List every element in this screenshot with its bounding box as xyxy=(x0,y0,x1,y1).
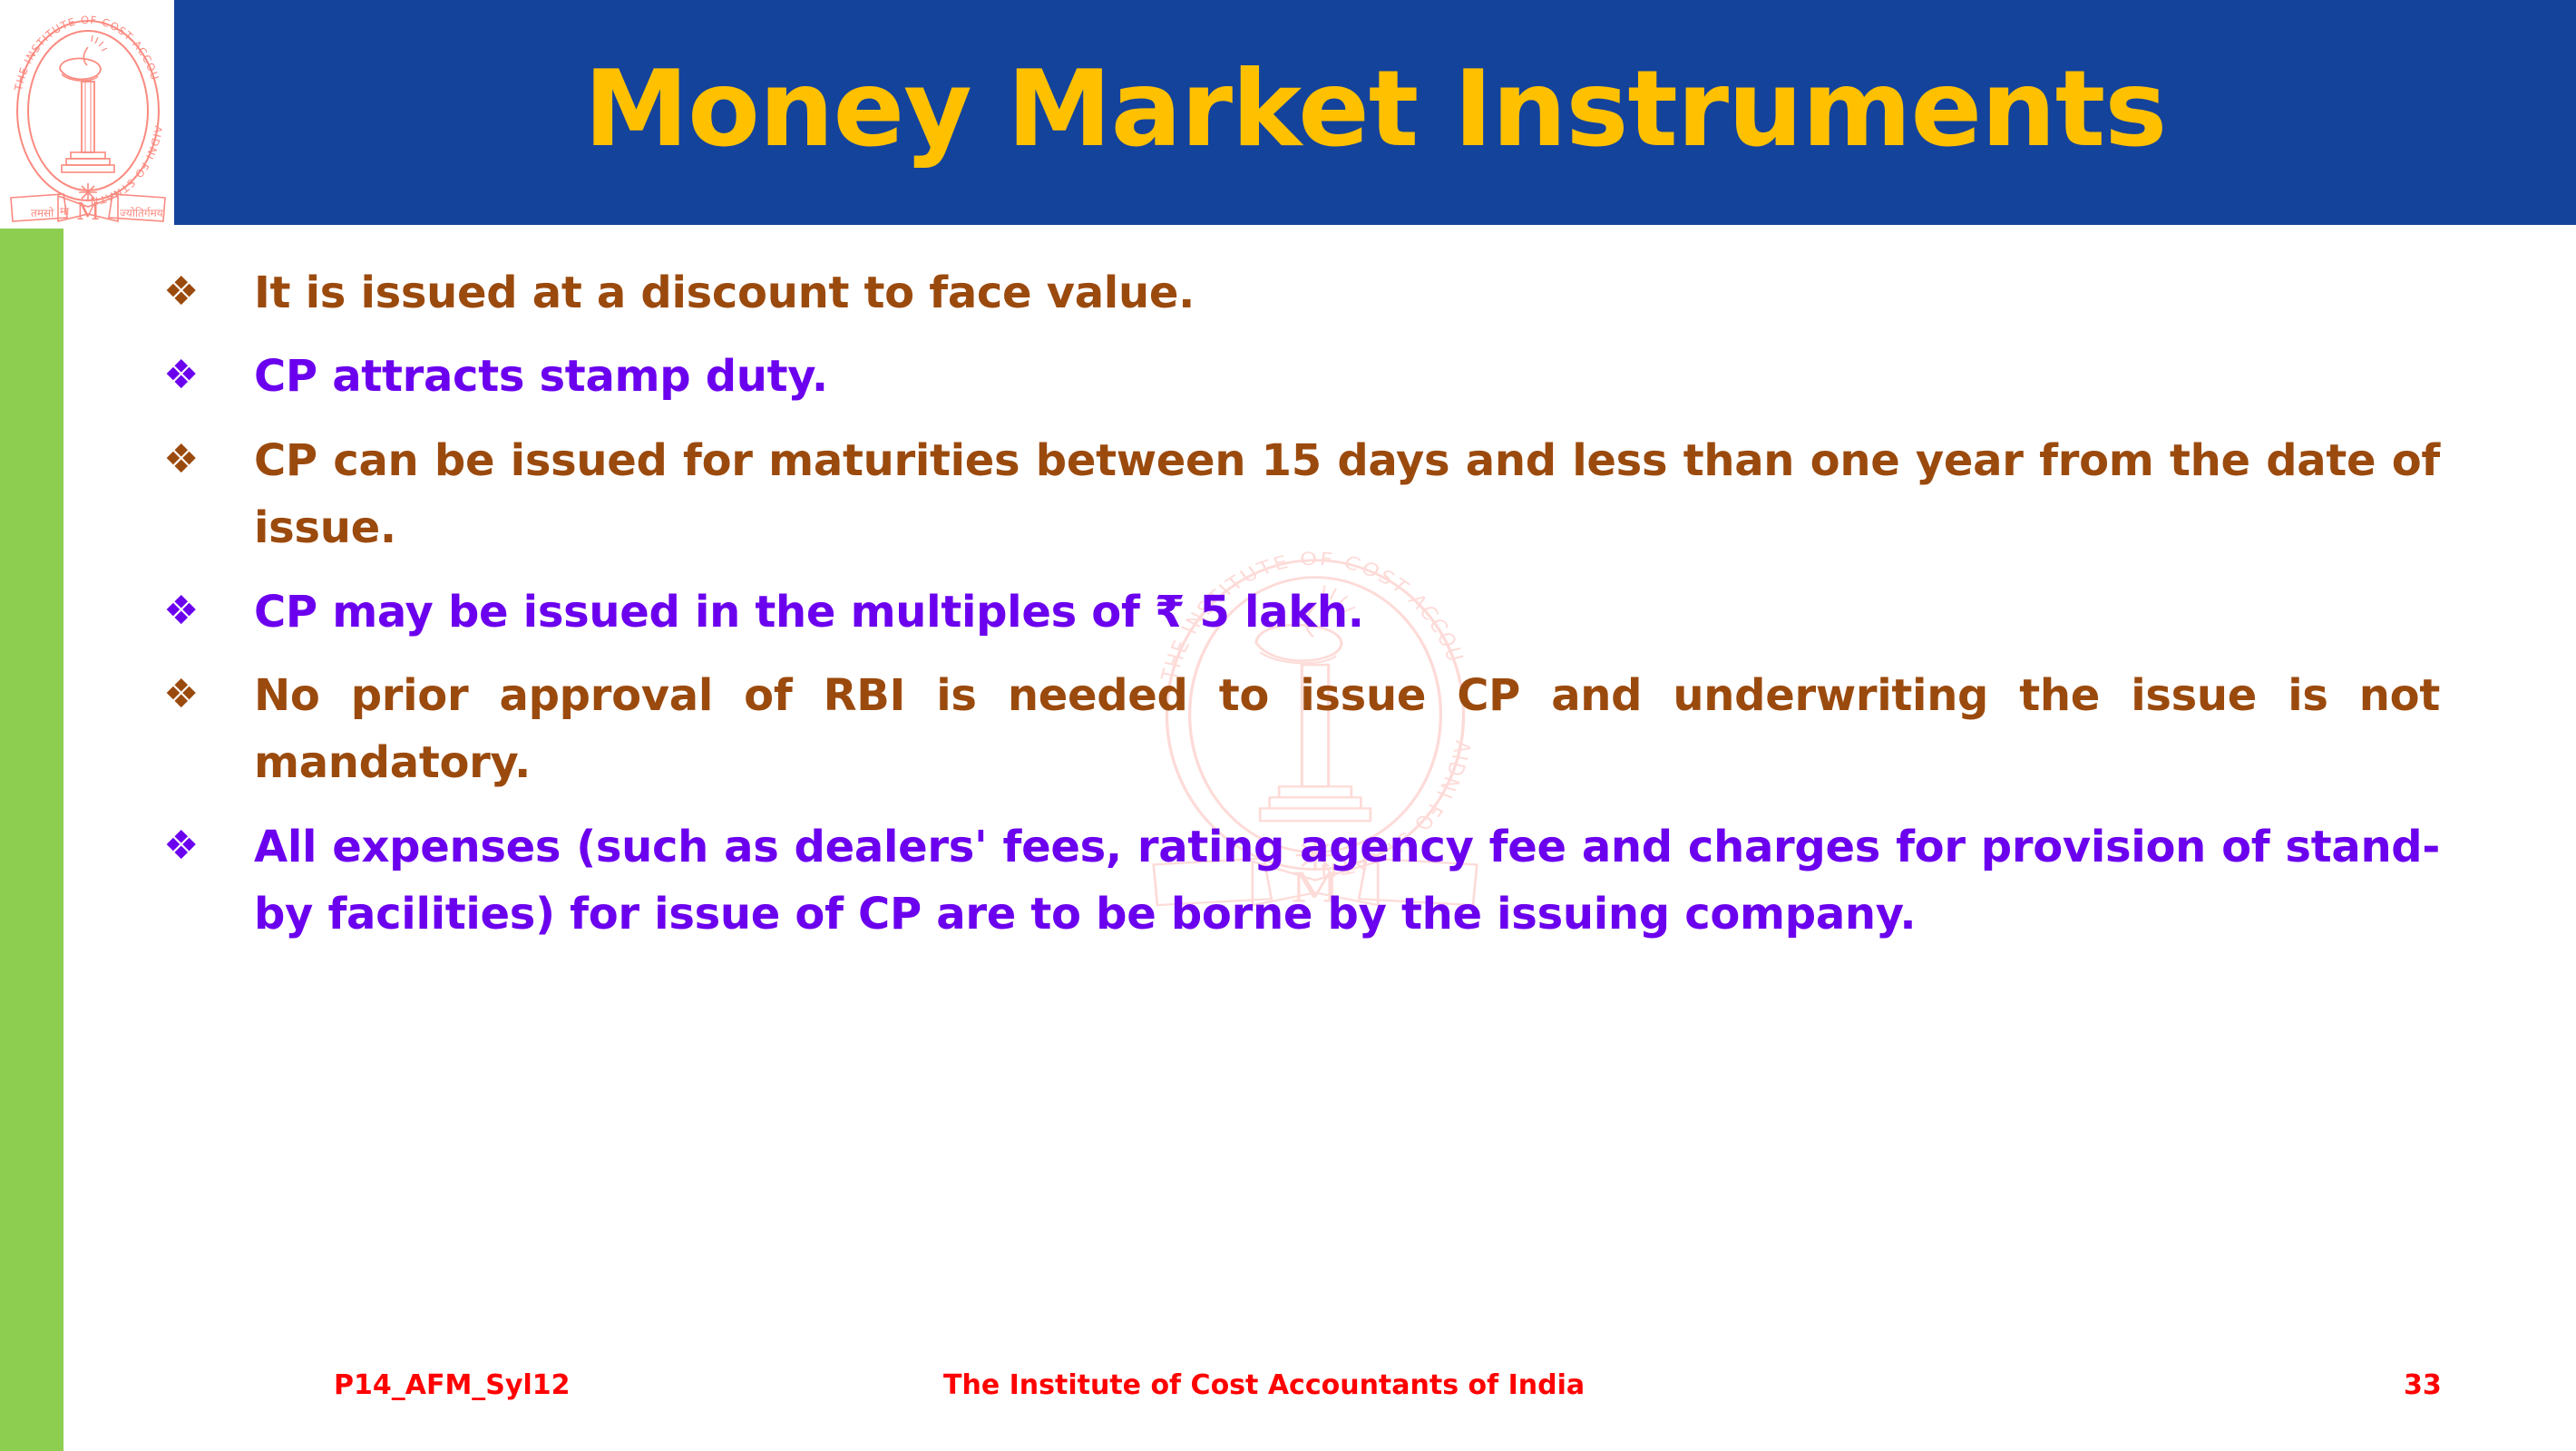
list-item-text: CP attracts stamp duty. xyxy=(254,343,2440,410)
page-title: Money Market Instruments xyxy=(584,57,2167,162)
svg-text:मा: मा xyxy=(60,205,70,218)
diamond-bullet-icon: ❖ xyxy=(163,259,254,318)
diamond-bullet-icon: ❖ xyxy=(163,579,254,638)
list-item-text: No prior approval of RBI is needed to is… xyxy=(254,662,2440,797)
footer-course-code: P14_AFM_Syl12 xyxy=(334,1369,571,1401)
diamond-bullet-icon: ❖ xyxy=(163,813,254,872)
slide-footer: P14_AFM_Syl12 The Institute of Cost Acco… xyxy=(0,1360,2576,1415)
diamond-bullet-icon: ❖ xyxy=(163,662,254,721)
list-item: ❖ No prior approval of RBI is needed to … xyxy=(163,662,2440,797)
svg-text:ज्योतिर्गमय: ज्योतिर्गमय xyxy=(120,207,164,219)
institute-logo: M THE INSTITUTE OF COST ACCOU AIDNI FO S… xyxy=(4,4,172,225)
diamond-bullet-icon: ❖ xyxy=(163,343,254,402)
list-item: ❖ CP may be issued in the multiples of ₹… xyxy=(163,579,2440,646)
svg-text:तमसो: तमसो xyxy=(31,207,54,219)
list-item: ❖ CP can be issued for maturities betwee… xyxy=(163,427,2440,562)
list-item: ❖ CP attracts stamp duty. xyxy=(163,343,2440,410)
title-banner: Money Market Instruments xyxy=(174,0,2576,225)
left-accent-bar xyxy=(0,229,63,1451)
list-item: ❖ All expenses (such as dealers' fees, r… xyxy=(163,813,2440,949)
footer-page-number: 33 xyxy=(2404,1369,2442,1401)
list-item-text: CP can be issued for maturities between … xyxy=(254,427,2440,562)
list-item-text: It is issued at a discount to face value… xyxy=(254,259,2440,326)
list-item-text: CP may be issued in the multiples of ₹ 5… xyxy=(254,579,2440,646)
list-item-text: All expenses (such as dealers' fees, rat… xyxy=(254,813,2440,949)
bullet-list: ❖ It is issued at a discount to face val… xyxy=(163,259,2440,965)
list-item: ❖ It is issued at a discount to face val… xyxy=(163,259,2440,326)
footer-institute-name: The Institute of Cost Accountants of Ind… xyxy=(943,1369,1585,1401)
diamond-bullet-icon: ❖ xyxy=(163,427,254,486)
